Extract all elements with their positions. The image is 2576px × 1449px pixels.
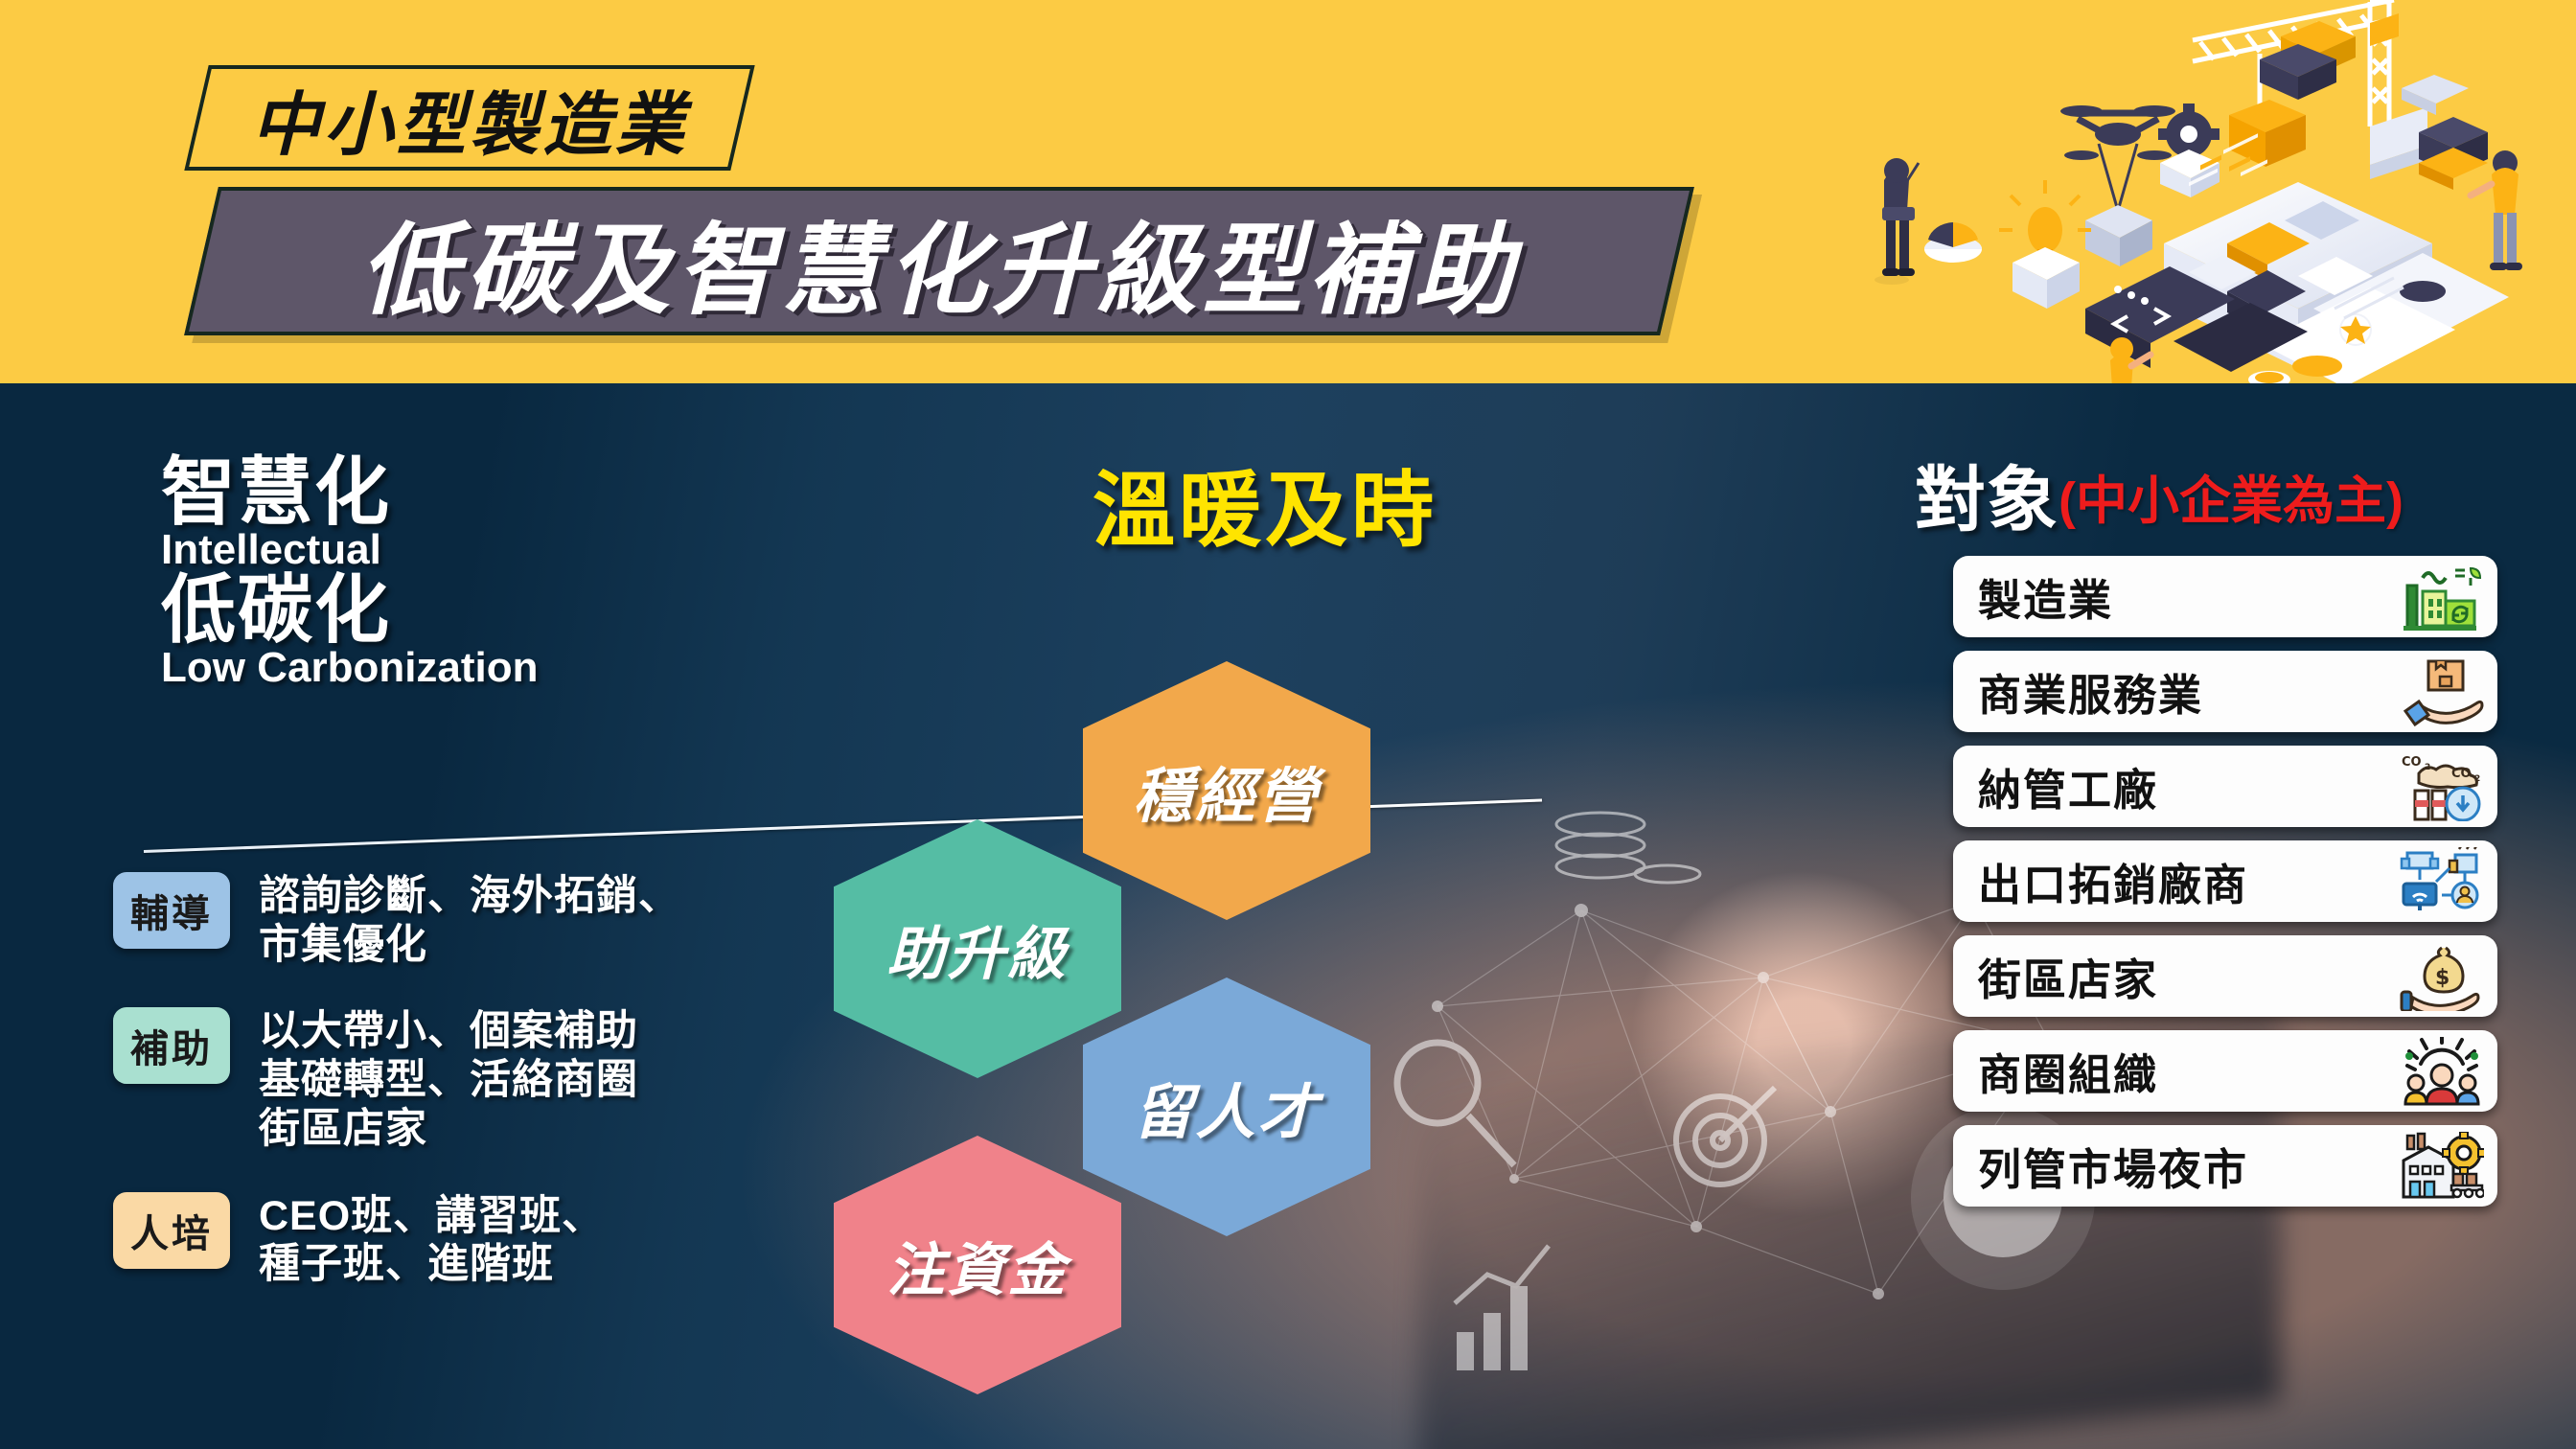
list-item[interactable]: 商業服務業 xyxy=(1953,651,2497,732)
list-item[interactable]: 出口拓銷廠商 xyxy=(1953,840,2497,922)
hexagon-inject-funds: 注資金 xyxy=(834,1136,1121,1394)
item-label: 街區店家 xyxy=(1978,945,2398,1007)
item-label: 商圈組織 xyxy=(1978,1040,2398,1102)
heading-intellectual-en: Intellectual xyxy=(161,528,539,572)
text-line: 諮詢診斷、海外拓銷、 xyxy=(259,872,680,921)
hexagon-upgrade-support: 助升級 xyxy=(834,819,1121,1078)
main-title-text: 低碳及智慧化升級型補助 xyxy=(205,191,1673,332)
list-item[interactable]: 製造業 xyxy=(1953,556,2497,637)
left-headings: 智慧化 Intellectual 低碳化 Low Carbonization xyxy=(161,455,539,690)
svg-text:2: 2 xyxy=(2425,763,2430,772)
badge-subsidy: 補助 xyxy=(113,1007,230,1084)
people-gear-community-icon xyxy=(2398,1036,2486,1107)
market-building-gear-icon xyxy=(2398,1131,2486,1202)
hand-holding-money-bag-icon: $ xyxy=(2398,941,2486,1012)
text-line: 基礎轉型、活絡商圈 xyxy=(259,1056,638,1105)
left-panel: 智慧化 Intellectual 低碳化 Low Carbonization 輔… xyxy=(0,383,958,1449)
target-title-note: (中小企業為主) xyxy=(2058,472,2403,530)
item-label: 商業服務業 xyxy=(1978,660,2398,723)
right-panel: 對象(中小企業為主) 製造業 xyxy=(1878,383,2576,1449)
badge-talent: 人培 xyxy=(113,1192,230,1269)
hexagon-retain-talent: 留人才 xyxy=(1083,977,1370,1236)
list-item[interactable]: 列管市場夜市 xyxy=(1953,1125,2497,1207)
svg-text:CO: CO xyxy=(2402,755,2422,770)
item-label: 製造業 xyxy=(1978,565,2398,628)
item-label: 出口拓銷廠商 xyxy=(1978,850,2398,912)
network-export-trade-icon xyxy=(2398,846,2486,917)
text-line: 街區店家 xyxy=(259,1105,638,1154)
hexagon-stable-operation: 穩經營 xyxy=(1083,661,1370,920)
subtitle-box: 中小型製造業 xyxy=(184,65,754,171)
hexagon-cluster: 穩經營 助升級 留人才 注資金 xyxy=(862,661,1591,1390)
target-audience-list: 製造業 xyxy=(1953,556,2497,1220)
main-title-box: 低碳及智慧化升級型補助 xyxy=(184,187,1694,335)
item-label: 納管工廠 xyxy=(1978,755,2398,817)
target-title-main: 對象 xyxy=(1915,460,2058,540)
person-with-remote xyxy=(1874,158,1919,285)
svg-text:2: 2 xyxy=(2474,774,2480,784)
infographic-poster: 中小型製造業 低碳及智慧化升級型補助 xyxy=(0,0,2576,1449)
svg-text:$: $ xyxy=(2435,966,2449,990)
list-item[interactable]: 納管工廠 CO 2 CO 2 xyxy=(1953,746,2497,827)
heading-lowcarbon-cn: 低碳化 xyxy=(161,573,539,646)
heading-lowcarbon-en: Low Carbonization xyxy=(161,646,539,690)
list-item: 輔導 諮詢診斷、海外拓銷、 市集優化 xyxy=(113,872,937,969)
cup-icon xyxy=(2248,371,2290,383)
text-line: 市集優化 xyxy=(259,921,680,970)
pie-chart-icon xyxy=(1924,222,1982,263)
subtitle-text: 中小型製造業 xyxy=(200,69,739,167)
hexagon-label: 注資金 xyxy=(887,1224,1069,1307)
header-banner: 中小型製造業 低碳及智慧化升級型補助 xyxy=(0,0,2576,383)
talent-description: CEO班、講習班、 種子班、進階班 xyxy=(259,1192,604,1289)
badge-counseling: 輔導 xyxy=(113,872,230,949)
heading-intellectual-cn: 智慧化 xyxy=(161,455,539,528)
target-audience-title: 對象(中小企業為主) xyxy=(1915,443,2403,545)
svg-text:CO: CO xyxy=(2451,767,2472,781)
counseling-description: 諮詢診斷、海外拓銷、 市集優化 xyxy=(259,872,680,969)
text-line: 種子班、進階班 xyxy=(259,1240,604,1289)
text-line: 以大帶小、個案補助 xyxy=(259,1007,638,1056)
lightbulb-icon xyxy=(1999,180,2091,309)
co2-smokestack-reduce-icon: CO 2 CO 2 xyxy=(2398,751,2486,822)
person-moving-box xyxy=(2471,150,2522,270)
green-factory-recycle-icon xyxy=(2398,562,2486,632)
text-line: CEO班、講習班、 xyxy=(259,1192,604,1241)
isometric-illustration xyxy=(1848,0,2576,383)
subsidy-description: 以大帶小、個案補助 基礎轉型、活絡商圈 街區店家 xyxy=(259,1007,638,1153)
item-label: 列管市場夜市 xyxy=(1978,1135,2398,1197)
hexagon-label: 留人才 xyxy=(1133,1064,1320,1150)
center-title: 溫暖及時 xyxy=(1092,443,1437,563)
list-item[interactable]: 商圈組織 xyxy=(1953,1030,2497,1112)
hand-holding-parcel-icon xyxy=(2398,656,2486,727)
list-item: 人培 CEO班、講習班、 種子班、進階班 xyxy=(113,1192,937,1289)
hexagon-label: 穩經營 xyxy=(1133,747,1320,834)
support-category-list: 輔導 諮詢診斷、海外拓銷、 市集優化 補助 以大帶小、個案補助 基礎轉型、活絡商… xyxy=(113,872,937,1327)
list-item: 補助 以大帶小、個案補助 基礎轉型、活絡商圈 街區店家 xyxy=(113,1007,937,1153)
hexagon-label: 助升級 xyxy=(887,908,1069,991)
target-icon xyxy=(1676,1088,1775,1184)
list-item[interactable]: 街區店家 $ xyxy=(1953,935,2497,1017)
